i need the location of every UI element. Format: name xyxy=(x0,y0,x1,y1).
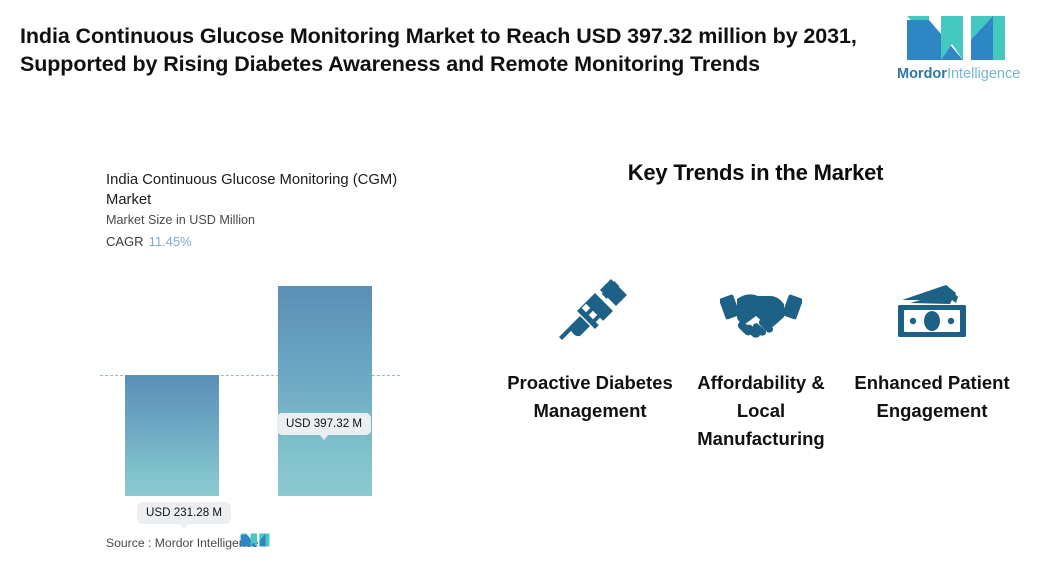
syringe-icon xyxy=(553,275,627,347)
mordor-m-logo-icon xyxy=(905,14,1007,62)
bar-2026[interactable] xyxy=(125,375,219,496)
trend-card-enhanced-patient-engagement[interactable]: Enhanced Patient Engagement xyxy=(848,275,1016,425)
page-title: India Continuous Glucose Monitoring Mark… xyxy=(20,22,860,78)
chart-source: Source : Mordor Intelligence xyxy=(106,536,258,550)
page-header: India Continuous Glucose Monitoring Mark… xyxy=(0,0,1041,120)
brand-name-secondary: Intelligence xyxy=(947,66,1020,82)
brand-wordmark: MordorIntelligence xyxy=(897,66,1015,82)
bar-value-label-2026: USD 231.28 M xyxy=(137,502,231,524)
handshake-icon xyxy=(720,275,802,347)
mordor-m-mark-icon xyxy=(240,532,270,548)
key-trends-panel: Key Trends in the Market xyxy=(470,150,1041,582)
chart-panel: India Continuous Glucose Monitoring (CGM… xyxy=(0,150,470,582)
bar-2031[interactable] xyxy=(278,286,372,496)
trend-label-3: Enhanced Patient Engagement xyxy=(848,369,1016,425)
infographic-page: India Continuous Glucose Monitoring Mark… xyxy=(0,0,1041,582)
bar-value-label-2031: USD 397.32 M xyxy=(277,413,371,435)
brand-name-primary: Mordor xyxy=(897,66,947,82)
key-trends-heading: Key Trends in the Market xyxy=(470,160,1041,186)
trend-card-proactive-diabetes-management[interactable]: Proactive Diabetes Management xyxy=(506,275,674,425)
trend-label-1: Proactive Diabetes Management xyxy=(506,369,674,425)
bar-chart-plot: USD 231.28 M USD 397.32 M 2026 2031 xyxy=(0,150,470,582)
trend-card-affordability-local-manufacturing[interactable]: Affordability & Local Manufacturing xyxy=(677,275,845,453)
trend-card-list: Proactive Diabetes Management xyxy=(506,275,1016,453)
brand-logo: MordorIntelligence xyxy=(897,14,1015,92)
trend-label-2: Affordability & Local Manufacturing xyxy=(677,369,845,453)
cash-stack-icon xyxy=(896,275,968,347)
